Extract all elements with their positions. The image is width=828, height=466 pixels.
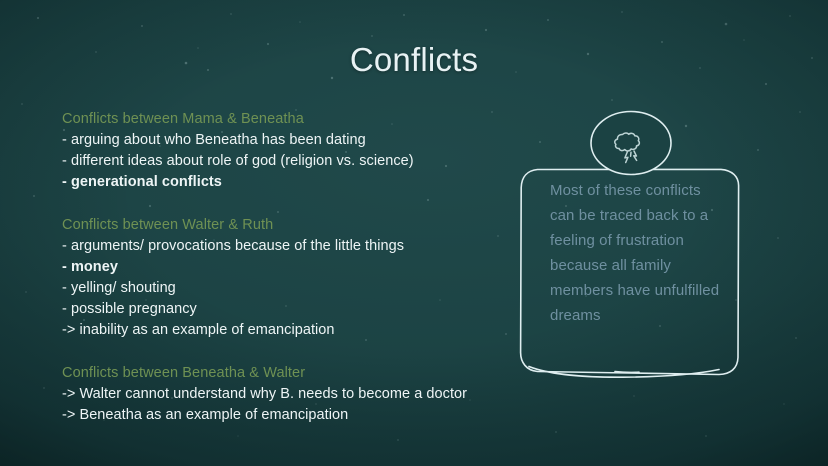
conflict-section-beneatha-walter: Conflicts between Beneatha & Walter -> W…	[62, 363, 502, 426]
bullet-line: - arguments/ provocations because of the…	[62, 236, 502, 257]
bullet-line: -> inability as an example of emancipati…	[62, 320, 502, 341]
bullet-line: - yelling/ shouting	[62, 278, 502, 299]
bullet-line: - different ideas about role of god (rel…	[62, 151, 502, 172]
conflicts-list: Conflicts between Mama & Beneatha - argu…	[62, 109, 502, 426]
bullet-line: -> Walter cannot understand why B. needs…	[62, 384, 502, 405]
conflict-section-mama-beneatha: Conflicts between Mama & Beneatha - argu…	[62, 109, 502, 193]
callout-text: Most of these conflicts can be traced ba…	[550, 178, 728, 328]
bullet-line: -> Beneatha as an example of emancipatio…	[62, 405, 502, 426]
conflict-section-walter-ruth: Conflicts between Walter & Ruth - argume…	[62, 215, 502, 341]
conclusion-callout: Most of these conflicts can be traced ba…	[519, 166, 741, 378]
bullet-line: - arguing about who Beneatha has been da…	[62, 130, 502, 151]
section-heading: Conflicts between Mama & Beneatha	[62, 109, 502, 130]
storm-cloud-lightning-icon	[589, 110, 673, 176]
section-heading: Conflicts between Walter & Ruth	[62, 215, 502, 236]
section-heading: Conflicts between Beneatha & Walter	[62, 363, 502, 384]
bullet-line: - possible pregnancy	[62, 299, 502, 320]
bullet-line: - generational conflicts	[62, 172, 502, 193]
bullet-line: - money	[62, 257, 502, 278]
presentation-slide: Conflicts Conflicts between Mama & Benea…	[0, 0, 828, 466]
page-title: Conflicts	[0, 41, 828, 79]
